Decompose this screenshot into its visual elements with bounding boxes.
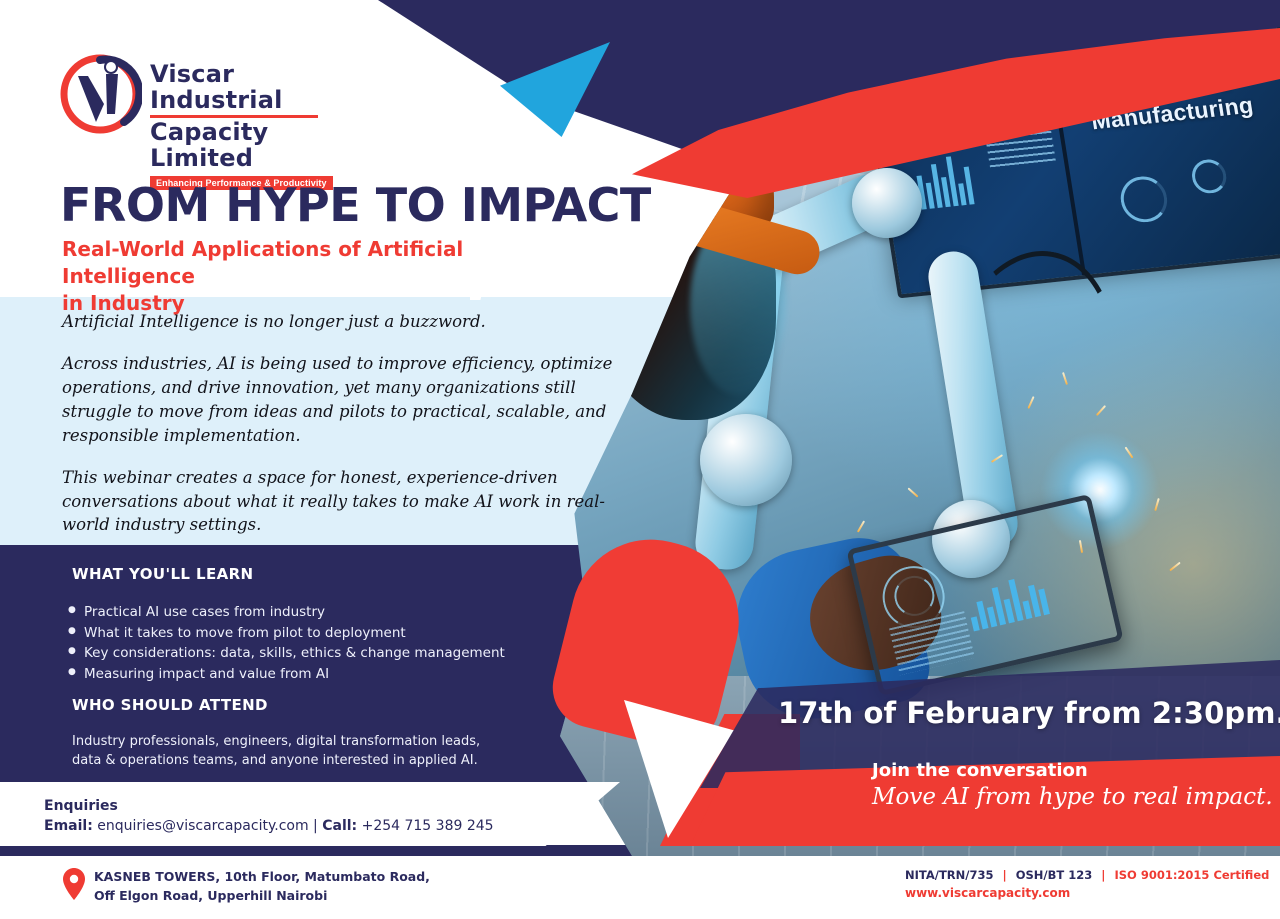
monitor-gauge-icon xyxy=(1117,174,1170,224)
robot-joint xyxy=(852,168,922,238)
location-pin-icon xyxy=(62,868,86,900)
cta-title: Join the conversation xyxy=(872,760,1088,781)
list-item: Measuring impact and value from AI xyxy=(68,664,538,685)
logo-wordmark: Viscar Industrial Capacity Limited Enhan… xyxy=(150,62,358,191)
attend-body: Industry professionals, engineers, digit… xyxy=(72,732,512,770)
list-item: What it takes to move from pilot to depl… xyxy=(68,623,538,644)
cert-nita: NITA/TRN/735 xyxy=(905,868,994,882)
viscar-logo-icon xyxy=(58,52,142,136)
tablet-device xyxy=(846,494,1123,696)
office-address: KASNEB TOWERS, 10th Floor, Matumbato Roa… xyxy=(94,868,430,906)
learn-list: Practical AI use cases from industry Wha… xyxy=(68,602,538,684)
cert-iso: ISO 9001:2015 Certified xyxy=(1114,868,1269,882)
enquiries-title: Enquiries xyxy=(44,798,118,814)
phone-number[interactable]: +254 715 389 245 xyxy=(362,818,494,834)
attend-heading: WHO SHOULD ATTEND xyxy=(72,696,268,714)
intro-paragraph-2: Across industries, AI is being used to i… xyxy=(62,352,622,448)
intro-paragraph-3: This webinar creates a space for honest,… xyxy=(62,466,622,538)
subtitle-line-1: Real-World Applications of Artificial In… xyxy=(62,237,463,288)
tablet-bar-chart xyxy=(964,571,1050,631)
event-datetime: 17th of February from 2:30pm. xyxy=(778,696,1280,730)
weld-spark xyxy=(857,520,865,532)
cta-subtitle: Move AI from hype to real impact. xyxy=(872,784,1273,810)
cert-osh: OSH/BT 123 xyxy=(1016,868,1093,882)
email-address[interactable]: enquiries@viscarcapacity.com xyxy=(97,818,308,834)
cert-divider: | xyxy=(1003,868,1007,882)
intro-paragraph-1: Artificial Intelligence is no longer jus… xyxy=(62,310,622,334)
certifications: NITA/TRN/735 | OSH/BT 123 | ISO 9001:201… xyxy=(905,868,1269,882)
intro-text: Artificial Intelligence is no longer jus… xyxy=(62,310,622,537)
page-subtitle: Real-World Applications of Artificial In… xyxy=(62,236,592,316)
logo-line-1: Viscar Industrial xyxy=(150,62,358,114)
list-item: Key considerations: data, skills, ethics… xyxy=(68,643,538,664)
poster-canvas: AI Integrated Manufacturing xyxy=(0,0,1280,919)
website-url[interactable]: www.viscarcapacity.com xyxy=(905,886,1070,900)
page-title: FROM HYPE TO IMPACT xyxy=(60,178,651,232)
email-label: Email: xyxy=(44,818,93,834)
cert-divider: | xyxy=(1101,868,1105,882)
weld-spark xyxy=(908,487,919,497)
call-label: Call: xyxy=(322,818,357,834)
learn-heading: WHAT YOU'LL LEARN xyxy=(72,565,254,583)
address-line-2: Off Elgon Road, Upperhill Nairobi xyxy=(94,888,327,903)
enquiries-contact: Email: enquiries@viscarcapacity.com | Ca… xyxy=(44,818,494,834)
logo-line-2: Capacity Limited xyxy=(150,120,358,172)
company-logo[interactable]: Viscar Industrial Capacity Limited Enhan… xyxy=(58,52,358,152)
white-wedge-shape xyxy=(0,782,620,846)
monitor-gauge-icon xyxy=(1189,158,1228,195)
weld-spark xyxy=(1169,562,1180,572)
list-item: Practical AI use cases from industry xyxy=(68,602,538,623)
address-line-1: KASNEB TOWERS, 10th Floor, Matumbato Roa… xyxy=(94,869,430,884)
contact-divider: | xyxy=(313,818,318,834)
